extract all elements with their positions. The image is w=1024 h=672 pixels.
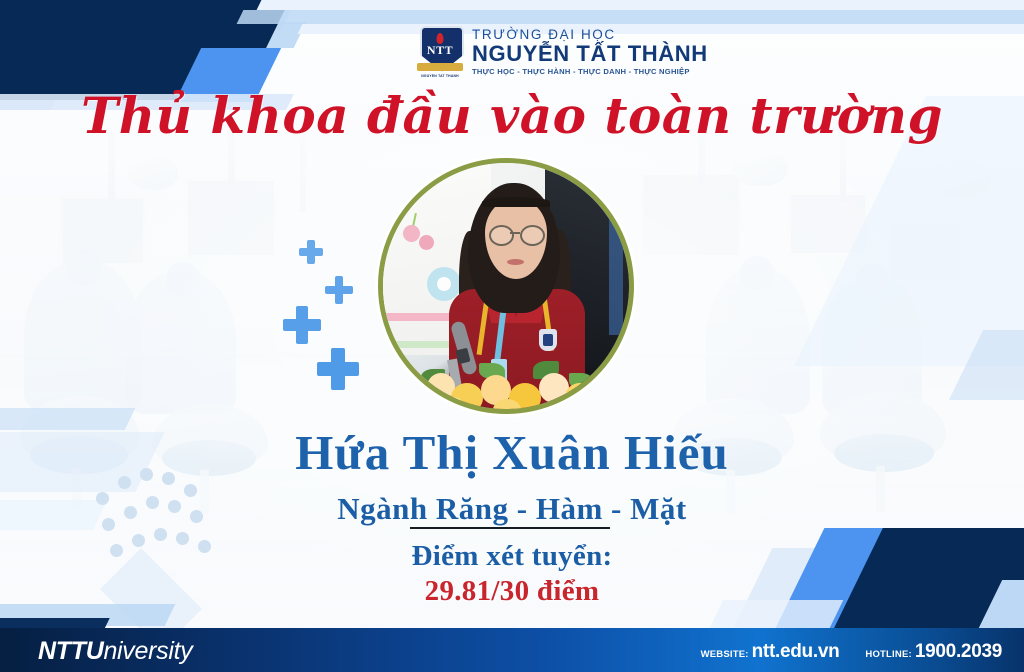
portrait-headband [482,197,550,207]
footer-brand-bold: NTTU [38,637,103,665]
medical-cross-icon [317,348,359,390]
university-logo-text: TRƯỜNG ĐẠI HỌC NGUYỄN TẤT THÀNH THỰC HỌC… [472,28,708,76]
deco-top-band-1 [257,0,1024,10]
deco-top-band-2 [237,10,1024,24]
university-name: NGUYỄN TẤT THÀNH [472,43,708,65]
student-name: Hứa Thị Xuân Hiếu [0,424,1024,481]
footer-website[interactable]: WEBSITE: ntt.edu.vn [701,641,840,663]
score-label: Điểm xét tuyển: [0,540,1024,573]
portrait-glasses-left [489,225,514,246]
score-value: 29.81/30 điểm [0,575,1024,608]
footer-website-value[interactable]: ntt.edu.vn [752,641,840,663]
footer-hotline-label: HOTLINE: [865,649,911,660]
portrait-deco-flower-center [437,277,451,291]
footer-brand-light: niversity [103,637,192,665]
portrait-deco-cherry [419,235,434,250]
footer-hotline[interactable]: HOTLINE: 1900.2039 [865,641,1002,663]
portrait-glasses-right [520,225,545,246]
shield-initials: NTT [418,43,462,58]
student-major: Ngành Răng - Hàm - Mặt [0,491,1024,527]
portrait-bouquet [393,359,619,414]
university-prefix: TRƯỜNG ĐẠI HỌC [472,28,708,42]
portrait-lips [507,259,524,265]
nttu-shield-icon: NTT NGUYEN TAT THANH [418,26,462,78]
poster-headline: Thủ khoa đầu vào toàn trường [0,86,1024,145]
poster-canvas: NTT NGUYEN TAT THANH TRƯỜNG ĐẠI HỌC NGUY… [0,0,1024,672]
medical-cross-icon [283,306,321,344]
university-tagline: THỰC HỌC - THỰC HÀNH - THỰC DANH - THỰC … [472,68,708,76]
student-portrait [378,158,634,414]
medical-cross-icon [325,276,353,304]
shield-ribbon [417,63,463,71]
portrait-backdrop-strip [609,185,623,335]
footer-website-label: WEBSITE: [701,649,749,660]
footer-contact-group: WEBSITE: ntt.edu.vn HOTLINE: 1900.2039 [701,641,1002,663]
footer-hotline-value[interactable]: 1900.2039 [915,641,1002,663]
portrait-glasses-bridge [510,232,520,234]
footer-brand: NTTUniversity [38,637,192,666]
text-divider [410,527,610,529]
portrait-deco-cherry [403,225,420,242]
footer-bar: NTTUniversity WEBSITE: ntt.edu.vn HOTLIN… [0,628,1024,672]
portrait-chest-logo-inner [543,334,553,346]
shield-ribbon-text: NGUYEN TAT THANH [417,74,463,78]
medical-cross-icon [299,240,323,264]
university-logo-block: NTT NGUYEN TAT THANH TRƯỜNG ĐẠI HỌC NGUY… [418,26,708,78]
